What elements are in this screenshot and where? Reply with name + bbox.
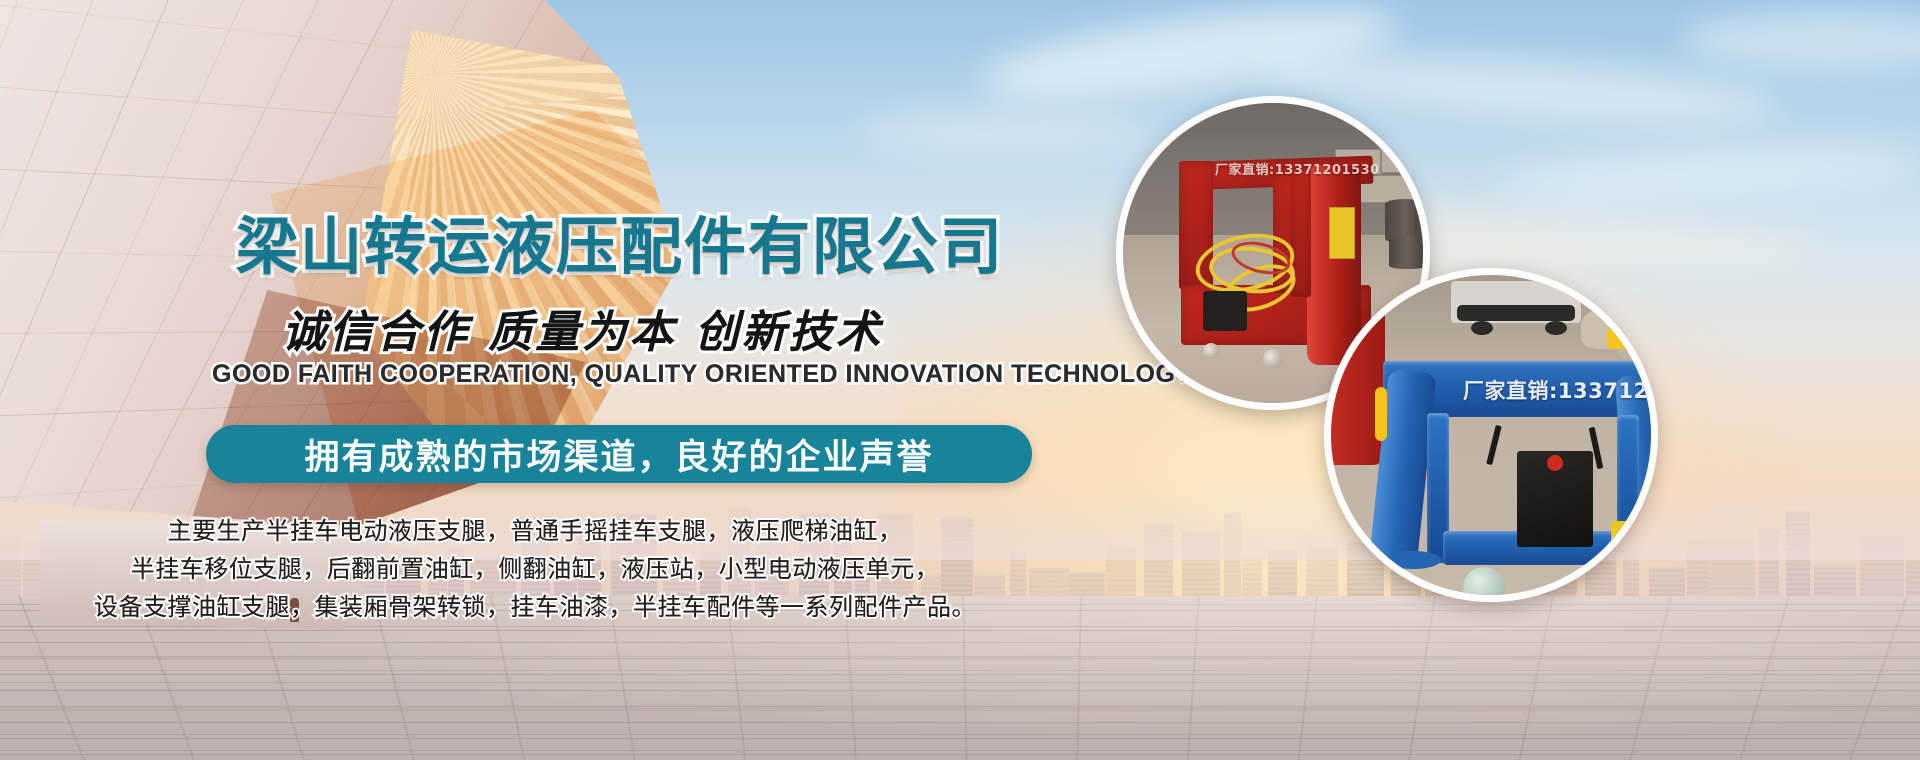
building — [1649, 567, 1685, 596]
description-line: 主要生产半挂车电动液压支腿，普通手摇挂车支腿，液压爬梯油缸， — [0, 512, 1070, 550]
slogan-en: GOOD FAITH COOPERATION, QUALITY ORIENTED… — [212, 360, 1193, 389]
photo-a-stencil-text: 厂家直销:13371201530 — [1215, 159, 1380, 178]
description-line: 设备支撑油缸支腿，集装厢骨架转锁，挂车油漆，半挂车配件等一系列配件产品。 — [0, 588, 1070, 626]
highlight-pill-label: 拥有成熟的市场渠道，良好的企业声誉 — [206, 425, 1032, 483]
photo-b-scene: 厂家直销:13371201530 — [1331, 275, 1651, 595]
description-text: 主要生产半挂车电动液压支腿，普通手摇挂车支腿，液压爬梯油缸，半挂车移位支腿，后翻… — [0, 512, 1070, 626]
description-line: 半挂车移位支腿，后翻前置油缸，侧翻油缸，液压站，小型电动液压单元， — [0, 550, 1070, 588]
slogan-cn: 诚信合作 质量为本 创新技术 — [282, 296, 883, 360]
photo-circle-blue-cart: 厂家直销:13371201530 — [1324, 268, 1658, 602]
company-title: 梁山转运液压配件有限公司 — [236, 196, 1004, 286]
building — [1906, 559, 1920, 596]
building — [1814, 565, 1856, 596]
banner-text-block: 梁山转运液压配件有限公司 梁山转运液压配件有限公司 诚信合作 质量为本 创新技术… — [0, 0, 1080, 760]
photo-b-beam-text: 厂家直销:13371201530 — [1463, 375, 1658, 405]
highlight-pill: 拥有成熟的市场渠道，良好的企业声誉 — [206, 425, 1032, 483]
hero-banner: 梁山转运液压配件有限公司 梁山转运液压配件有限公司 诚信合作 质量为本 创新技术… — [0, 0, 1920, 760]
building — [1242, 556, 1262, 596]
